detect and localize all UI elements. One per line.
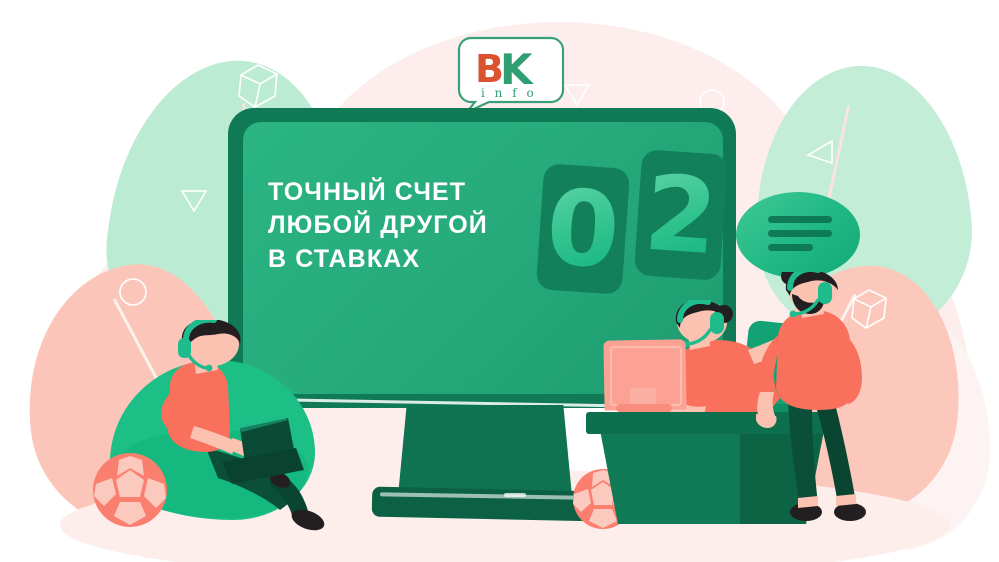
score-tile-home: 0 [536, 163, 631, 295]
triangle-outline-right [805, 138, 835, 166]
brand-logo[interactable]: B K i n f o [455, 34, 565, 112]
desk-monitor-foot [616, 404, 672, 412]
screen-stand-base-tick [504, 493, 526, 497]
soccer-ball-left [92, 452, 168, 528]
circle-outline-left [118, 277, 148, 307]
cube-outline-top-left [235, 62, 281, 110]
headline-block: ТОЧНЫЙ СЧЕТ ЛЮБОЙ ДРУГОЙ В СТАВКАХ [268, 176, 528, 276]
coach-standing [756, 272, 868, 534]
headline-line-3: В СТАВКАХ [268, 243, 528, 276]
chat-bubble-line [768, 230, 832, 237]
triangle-outline-left [180, 188, 208, 214]
score-tile-away: 2 [634, 149, 729, 281]
chat-bubble-line [768, 216, 832, 223]
chat-bubble-line [768, 244, 813, 251]
score-digit-home: 0 [543, 175, 622, 284]
promo-banner: B K i n f o ТОЧНЫЙ СЧЕТ ЛЮБОЙ ДРУГОЙ В С… [0, 0, 999, 562]
logo-subtext: i n f o [481, 86, 537, 100]
score-digit-away: 2 [641, 161, 720, 270]
headline-line-1: ТОЧНЫЙ СЧЕТ [268, 176, 528, 209]
headline-line-2: ЛЮБОЙ ДРУГОЙ [268, 209, 528, 242]
triangle-outline-top-center [563, 82, 591, 108]
